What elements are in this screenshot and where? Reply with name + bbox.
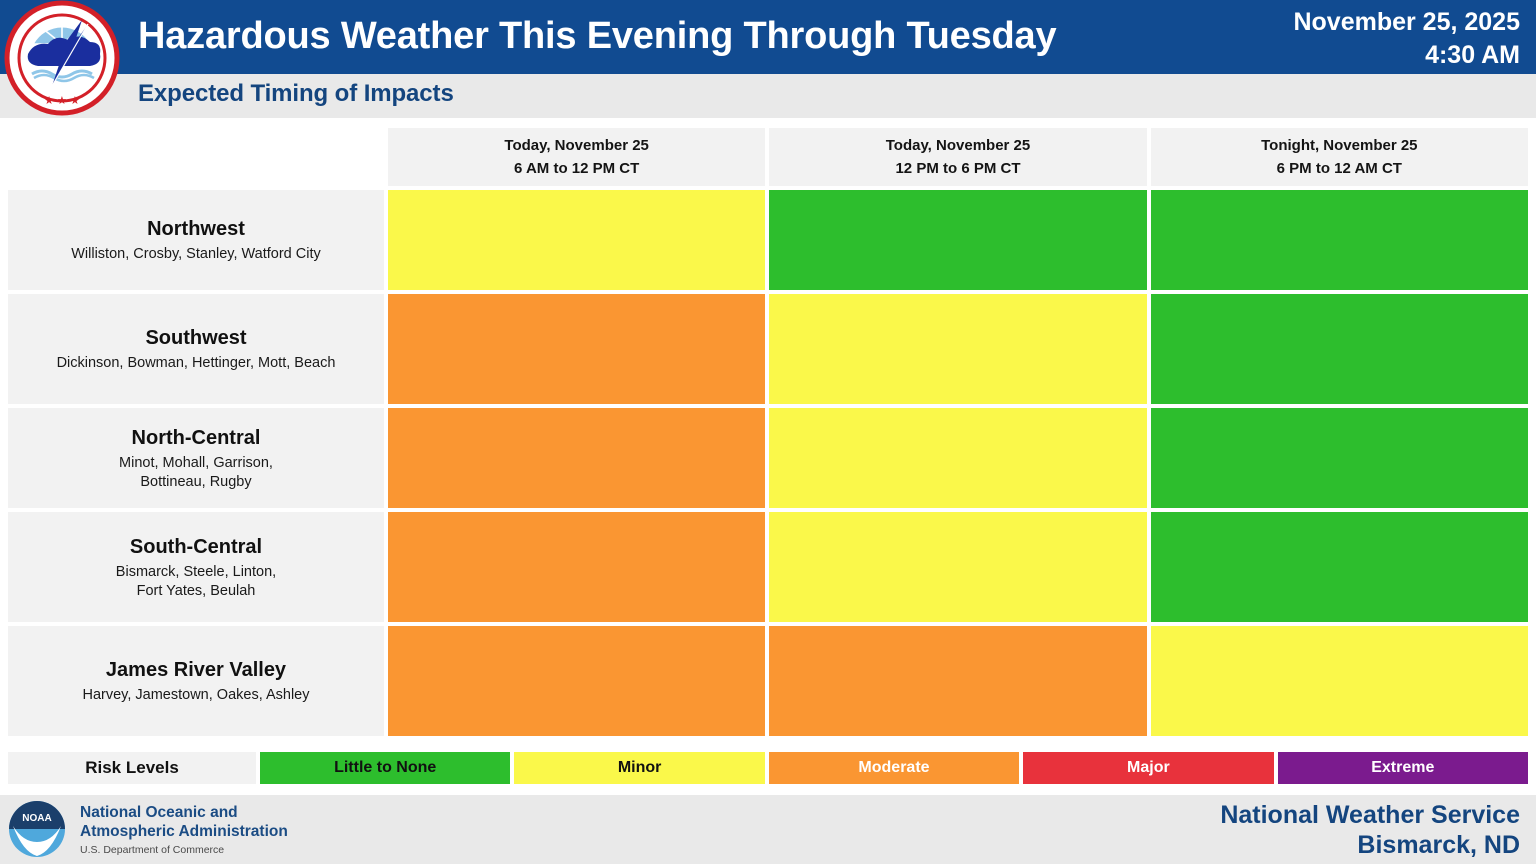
column-header-day: Today, November 25 [886,136,1031,155]
noaa-line-1: National Oceanic and [80,803,288,822]
region-name: South-Central [130,534,262,560]
table-corner-cell [8,128,384,186]
column-header-day: Today, November 25 [504,136,649,155]
legend-level-minor: Minor [514,752,764,784]
region-name: James River Valley [106,657,286,683]
region-row-label: James River ValleyHarvey, Jamestown, Oak… [8,626,384,736]
svg-text:NOAA: NOAA [22,813,51,824]
region-row-label: North-CentralMinot, Mohall, Garrison,Bot… [8,408,384,508]
column-header-day: Tonight, November 25 [1261,136,1417,155]
risk-cell [1151,626,1528,736]
region-cities: Minot, Mohall, Garrison,Bottineau, Rugby [119,454,273,492]
risk-cell [769,512,1146,622]
region-row-label: NorthwestWilliston, Crosby, Stanley, Wat… [8,190,384,290]
risk-cell [1151,190,1528,290]
region-name: North-Central [132,425,261,451]
region-cities: Bismarck, Steele, Linton,Fort Yates, Beu… [116,563,276,601]
risk-cell [388,294,765,404]
nws-office-line-2: Bismarck, ND [1040,830,1520,860]
column-header-2: Tonight, November 25 6 PM to 12 AM CT [1151,128,1528,186]
risk-cell [1151,408,1528,508]
legend-title: Risk Levels [8,752,256,784]
risk-cell [769,408,1146,508]
column-header-range: 6 AM to 12 PM CT [514,159,639,178]
impacts-grid: Today, November 25 6 AM to 12 PM CT Toda… [8,128,1528,736]
noaa-seal-icon: NOAA [8,800,68,858]
header-datetime: November 25, 2025 4:30 AM [1120,6,1520,72]
risk-cell [1151,294,1528,404]
nws-office-label: National Weather Service Bismarck, ND [1040,800,1520,860]
risk-cell [1151,512,1528,622]
legend-level-extreme: Extreme [1278,752,1528,784]
region-cities: Harvey, Jamestown, Oakes, Ashley [83,686,310,705]
noaa-wordmark: National Oceanic and Atmospheric Adminis… [80,803,288,858]
column-header-range: 6 PM to 12 AM CT [1277,159,1402,178]
legend-level-major: Major [1023,752,1273,784]
nws-office-line-1: National Weather Service [1040,800,1520,830]
region-row-label: SouthwestDickinson, Bowman, Hettinger, M… [8,294,384,404]
column-header-1: Today, November 25 12 PM to 6 PM CT [769,128,1146,186]
region-name: Northwest [147,216,245,242]
header-time: 4:30 AM [1120,39,1520,72]
risk-cell [388,512,765,622]
svg-text:★ ★ ★: ★ ★ ★ [44,95,80,107]
risk-cell [769,294,1146,404]
noaa-line-2: Atmospheric Administration [80,822,288,841]
region-row-label: South-CentralBismarck, Steele, Linton,Fo… [8,512,384,622]
impacts-table: Today, November 25 6 AM to 12 PM CT Toda… [8,128,1528,736]
legend-level-moderate: Moderate [769,752,1019,784]
risk-cell [388,626,765,736]
region-name: Southwest [145,325,246,351]
risk-cell [388,408,765,508]
page-title: Hazardous Weather This Evening Through T… [138,10,1208,62]
subtitle: Expected Timing of Impacts [138,80,454,108]
risk-legend: Risk Levels Little to None Minor Moderat… [8,752,1528,784]
risk-cell [769,190,1146,290]
nws-seal-icon: ★ ★ ★ [4,0,120,116]
noaa-line-3: U.S. Department of Commerce [80,843,288,858]
region-cities: Dickinson, Bowman, Hettinger, Mott, Beac… [57,354,336,373]
legend-level-little-to-none: Little to None [260,752,510,784]
column-header-range: 12 PM to 6 PM CT [895,159,1020,178]
risk-cell [388,190,765,290]
region-cities: Williston, Crosby, Stanley, Watford City [71,245,321,264]
column-header-0: Today, November 25 6 AM to 12 PM CT [388,128,765,186]
risk-cell [769,626,1146,736]
header-date: November 25, 2025 [1120,6,1520,39]
